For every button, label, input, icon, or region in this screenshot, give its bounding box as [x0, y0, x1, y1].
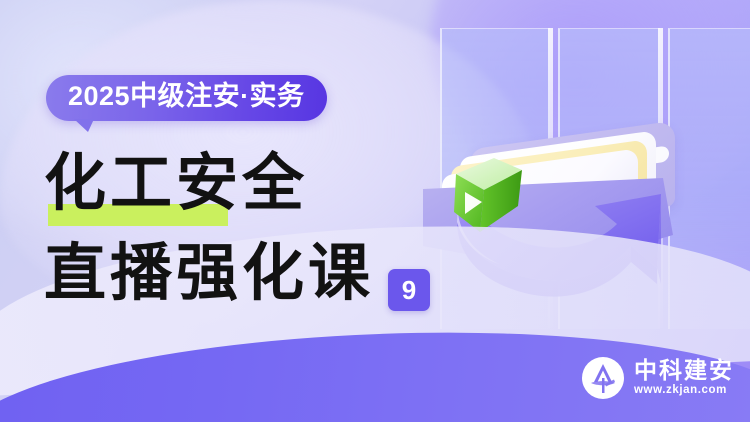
headline-line-1-row: 化工安全	[44, 152, 464, 230]
subtitle-pill-tail	[74, 119, 94, 132]
course-banner: 2025中级注安·实务 化工安全 直播强化课9 中科建安 www.zkjan.c…	[0, 0, 750, 422]
headline-block: 化工安全 直播强化课9	[44, 152, 464, 320]
brand-url: www.zkjan.com	[634, 385, 734, 397]
brand-text-block: 中科建安 www.zkjan.com	[634, 359, 734, 397]
episode-number-badge: 9	[388, 269, 430, 311]
headline-line-1: 化工安全	[44, 146, 308, 219]
subtitle-pill-wrapper: 2025中级注安·实务	[46, 75, 327, 121]
headline-line-2: 直播强化课	[44, 236, 374, 309]
brand-name: 中科建安	[634, 359, 734, 383]
headline-line-2-row: 直播强化课9	[44, 242, 464, 320]
brand-mark-icon	[581, 356, 625, 400]
brand-logo: 中科建安 www.zkjan.com	[581, 356, 734, 400]
subtitle-pill: 2025中级注安·实务	[46, 75, 327, 121]
subtitle-pill-label: 2025中级注安·实务	[68, 81, 305, 111]
